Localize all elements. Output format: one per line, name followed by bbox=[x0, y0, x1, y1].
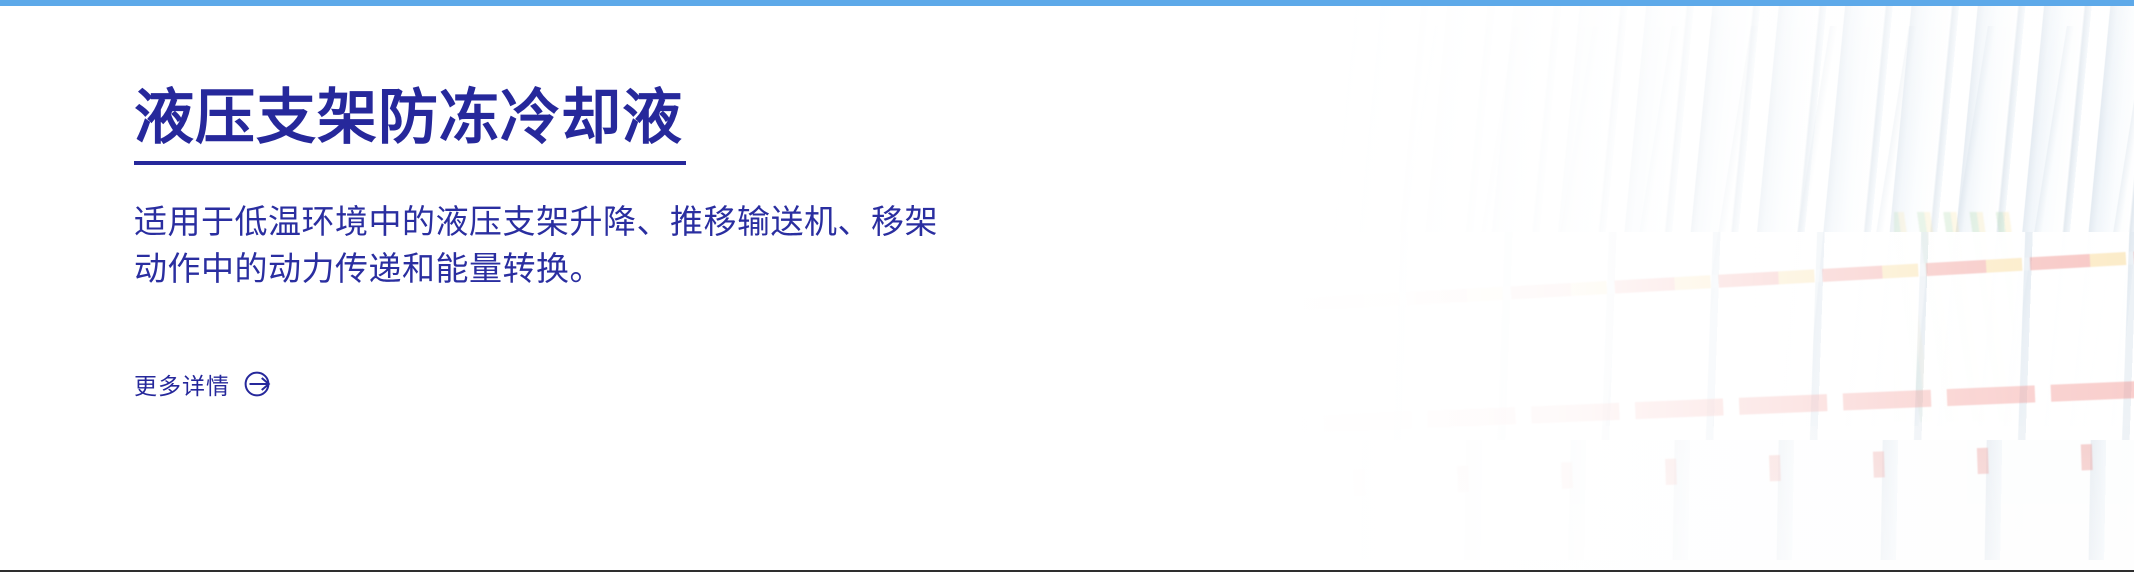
worker-figure-on-ground bbox=[676, 492, 696, 550]
banner-title: 液压支架防冻冷却液 bbox=[134, 84, 938, 151]
top-accent-bar bbox=[0, 0, 2134, 6]
arrow-right-circle-icon[interactable] bbox=[243, 369, 273, 399]
more-details-label: 更多详情 bbox=[134, 367, 230, 401]
banner-subtitle: 适用于低温环境中的液压支架升降、推移输送机、移架 动作中的动力传递和能量转换。 bbox=[134, 199, 938, 293]
orange-scissor-lift bbox=[714, 384, 824, 534]
subtitle-line-1: 适用于低温环境中的液压支架升降、推移输送机、移架 bbox=[134, 199, 938, 246]
title-underline bbox=[134, 161, 686, 165]
bottom-divider-rule bbox=[0, 570, 2134, 572]
promo-banner: 液压支架防冻冷却液 适用于低温环境中的液压支架升降、推移输送机、移架 动作中的动… bbox=[0, 0, 2134, 580]
more-details-link[interactable]: 更多详情 bbox=[134, 367, 273, 401]
banner-content: 液压支架防冻冷却液 适用于低温环境中的液压支架升降、推移输送机、移架 动作中的动… bbox=[0, 0, 938, 401]
subtitle-line-2: 动作中的动力传递和能量转换。 bbox=[134, 246, 938, 293]
